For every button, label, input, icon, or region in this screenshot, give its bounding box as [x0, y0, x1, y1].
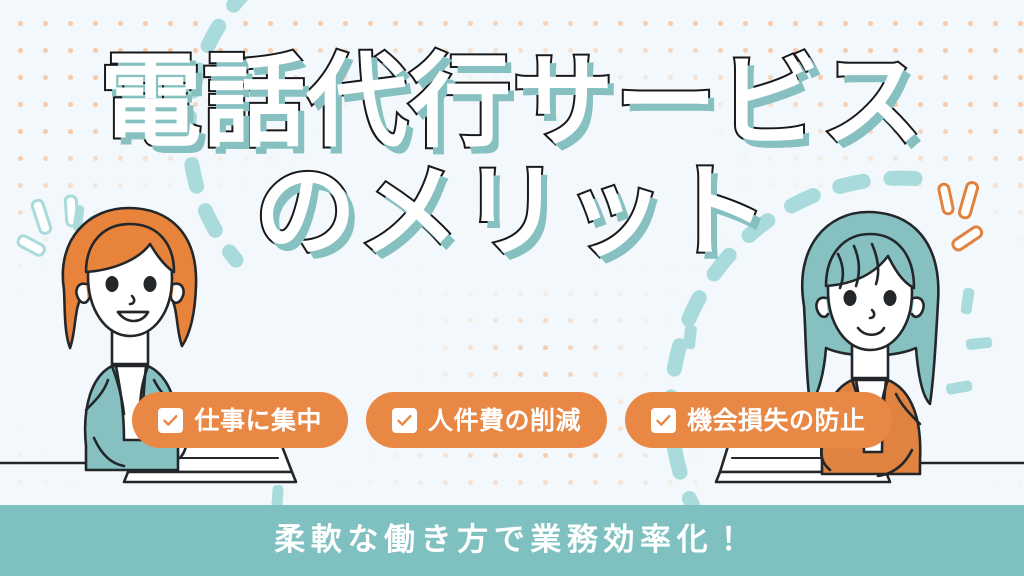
benefit-pill-3[interactable]: 機会損失の防止	[625, 392, 892, 448]
footer-banner: 柔軟な働き方で業務効率化！	[0, 505, 1024, 576]
check-box-icon	[651, 408, 676, 433]
hero-banner: 電話代行サービス のメリット 仕事に集中 人件費の削減	[0, 0, 1024, 576]
benefit-pill-1[interactable]: 仕事に集中	[132, 392, 348, 448]
benefit-pill-row: 仕事に集中 人件費の削減 機会損失の防止	[0, 392, 1024, 448]
headline-line-1: 電話代行サービス	[0, 52, 1024, 154]
benefit-pill-2[interactable]: 人件費の削減	[366, 392, 607, 448]
benefit-pill-1-label: 仕事に集中	[194, 408, 322, 433]
footer-banner-text: 柔軟な働き方で業務効率化！	[274, 525, 750, 556]
check-box-icon	[158, 408, 183, 433]
check-box-icon	[392, 408, 417, 433]
benefit-pill-3-label: 機会損失の防止	[687, 408, 866, 433]
benefit-pill-2-label: 人件費の削減	[428, 408, 581, 433]
